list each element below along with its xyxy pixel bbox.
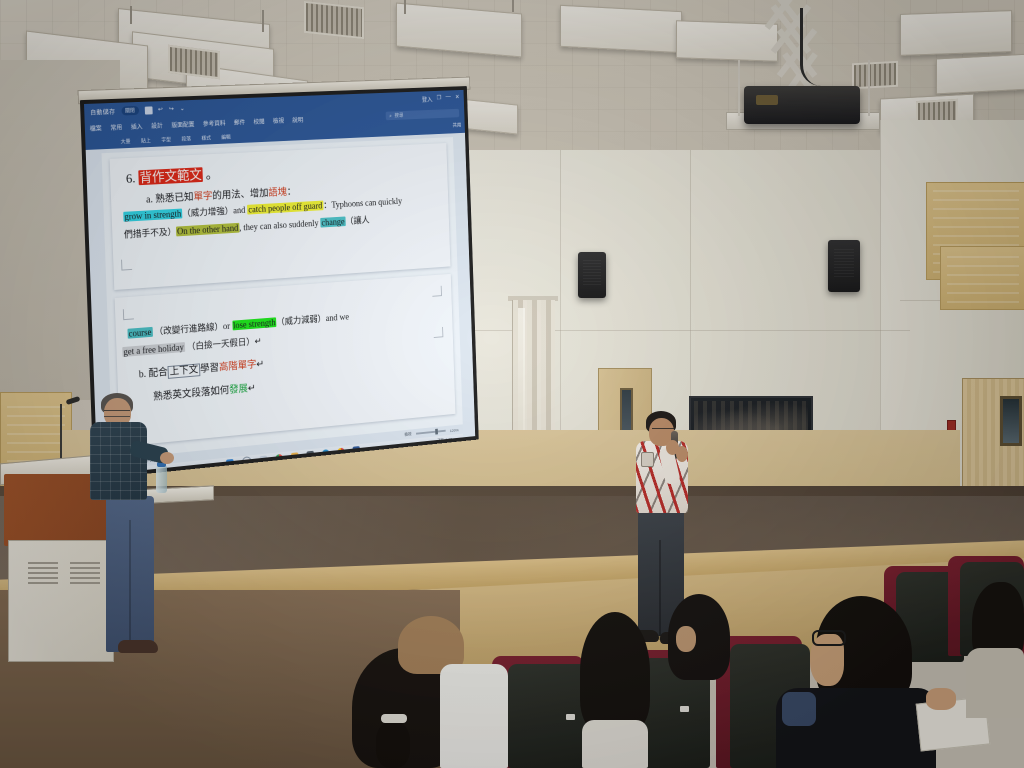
margin-mark — [121, 259, 132, 271]
restore-button[interactable]: ❐ — [436, 94, 441, 103]
signin-button[interactable]: 登入 — [422, 95, 433, 104]
ribbon-item-editing[interactable]: 編輯 — [221, 133, 231, 140]
trouser-seam — [129, 520, 131, 648]
margin-mark — [432, 286, 442, 297]
tab-home[interactable]: 常用 — [110, 122, 122, 131]
audience-ponytail — [376, 722, 410, 768]
wall-speaker — [578, 252, 606, 298]
audience-top — [966, 648, 1024, 718]
zoom-slider[interactable] — [416, 430, 446, 435]
tab-design[interactable]: 設計 — [151, 121, 163, 130]
autosave-toggle[interactable]: 關閉 — [121, 106, 139, 116]
ribbon-item-paragraph[interactable]: 段落 — [181, 135, 191, 142]
phrase-change: change — [320, 216, 345, 227]
ribbon-right-controls: 共用 — [452, 122, 461, 129]
sub-a-pre: 熟悉已知 — [155, 192, 194, 205]
presenter-shoe — [118, 640, 158, 653]
wall-seam — [430, 330, 910, 331]
ribbon-group-label: 大量 — [121, 138, 131, 145]
redo-icon[interactable]: ↪ — [169, 106, 174, 113]
panel-hanger — [512, 0, 514, 12]
hair-tie — [381, 714, 407, 723]
panel-hanger — [404, 0, 406, 14]
projected-image: 自動儲存 關閉 ↩ ↪ ⌄ 登入 ❐ — ✕ 檔案 常用 插入 設計 版面配置 — [84, 90, 475, 475]
zoom-level[interactable]: 120% — [450, 427, 459, 433]
status-view-label[interactable]: 檢視 — [404, 431, 411, 437]
water-bottle — [156, 465, 167, 493]
projection-screen: 自動儲存 關閉 ↩ ↪ ⌄ 登入 ❐ — ✕ 檔案 常用 插入 設計 版面配置 — [84, 90, 475, 475]
trouser-seam — [659, 540, 661, 640]
projector-guide-rod — [738, 60, 740, 116]
sub-b-mid: 學習 — [200, 363, 219, 375]
heading-text: 背作文範文 — [138, 167, 203, 185]
gooseneck-microphone-stand — [60, 404, 62, 464]
wall-seam — [690, 150, 691, 410]
acoustic-panel — [560, 5, 682, 53]
ceiling-projector — [744, 86, 860, 124]
heading-number: 6. — [126, 171, 136, 186]
sub-a-word-red: 單字 — [193, 191, 212, 203]
margin-mark — [123, 308, 134, 320]
more-icon[interactable]: ⌄ — [180, 105, 185, 112]
audience-white-top — [440, 664, 508, 768]
margin-mark — [433, 327, 443, 338]
panel-hanger — [262, 10, 264, 32]
lecture-hall-photo: 自動儲存 關閉 ↩ ↪ ⌄ 登入 ❐ — ✕ 檔案 常用 插入 設計 版面配置 — [0, 0, 1024, 768]
sub-b-pre: 配合 — [148, 367, 168, 379]
word-document-area[interactable]: 6. 背作文範文 。 a. 熟悉已知單字的用法、增加語塊： grow in st… — [102, 137, 463, 461]
undo-icon[interactable]: ↩ — [158, 106, 163, 113]
backpack-strap — [782, 692, 816, 726]
search-icon: ⌕ — [389, 113, 392, 119]
ribbon-item-paste[interactable]: 貼上 — [141, 137, 151, 144]
ribbon-item-font[interactable]: 字型 — [161, 136, 171, 143]
presenter-hand — [160, 452, 174, 464]
panel-hanger — [130, 6, 132, 24]
seat-number-tag — [566, 714, 575, 720]
plaid-pattern — [90, 422, 147, 500]
minimize-button[interactable]: — — [445, 94, 450, 103]
projector-lens — [756, 95, 778, 105]
autosave-label: 自動儲存 — [90, 107, 115, 117]
podium-cabinet — [8, 540, 114, 662]
share-button[interactable]: 共用 — [452, 122, 461, 129]
audience-face — [676, 626, 696, 652]
document-page — [115, 274, 456, 447]
line2-seg5: （讓人 — [345, 215, 369, 226]
podium-vent — [70, 562, 100, 584]
close-button[interactable]: ✕ — [455, 94, 460, 103]
audience-member-3 — [580, 612, 650, 732]
eyeglasses — [812, 630, 846, 646]
seat-number-tag — [680, 706, 689, 712]
sub-b-pilcrow: ↵ — [256, 359, 264, 370]
projector-cable — [800, 8, 821, 86]
sub-a-colon: ： — [287, 187, 297, 198]
sub-a-word-red2: 語塊 — [268, 187, 287, 199]
acoustic-panel — [900, 10, 1012, 56]
tab-mailings[interactable]: 郵件 — [234, 117, 246, 126]
search-placeholder: 搜尋 — [394, 112, 403, 119]
phrase-grow-in-strength: grow in strength — [123, 209, 182, 222]
audience-torso — [582, 720, 648, 768]
tab-review[interactable]: 校閱 — [253, 117, 264, 126]
eyeglasses — [104, 410, 130, 417]
acoustic-panel — [936, 54, 1024, 95]
wall-speaker — [828, 240, 860, 292]
sub-b-marker: b. — [139, 369, 147, 380]
ceiling-air-vent — [304, 1, 364, 39]
phrase-course: course — [127, 327, 152, 339]
tab-help[interactable]: 說明 — [292, 115, 303, 124]
tab-file[interactable]: 檔案 — [90, 123, 102, 132]
search-box[interactable]: ⌕ 搜尋 — [386, 109, 460, 120]
door-window — [1000, 396, 1022, 446]
ribbon-item-styles[interactable]: 樣式 — [201, 134, 211, 141]
tab-references[interactable]: 參考資料 — [203, 118, 226, 128]
last-line-pilcrow: ↵ — [248, 383, 256, 394]
sub-a-marker: a. — [146, 194, 153, 205]
last-line-word-green: 發展 — [229, 384, 248, 396]
save-icon[interactable] — [144, 106, 152, 114]
audience-hand — [926, 688, 956, 710]
shirt-emblem — [641, 452, 654, 467]
heading-punct: 。 — [206, 166, 219, 181]
wood-wall-panel — [940, 246, 1024, 310]
podium-vent — [28, 562, 58, 584]
speaker-hand — [676, 446, 688, 462]
tab-layout[interactable]: 版面配置 — [171, 120, 194, 130]
line2-seg1: 們措手不及） — [124, 227, 176, 240]
tab-insert[interactable]: 插入 — [131, 122, 143, 131]
projector-guide-rod — [868, 60, 870, 116]
tab-view[interactable]: 檢視 — [273, 116, 284, 125]
